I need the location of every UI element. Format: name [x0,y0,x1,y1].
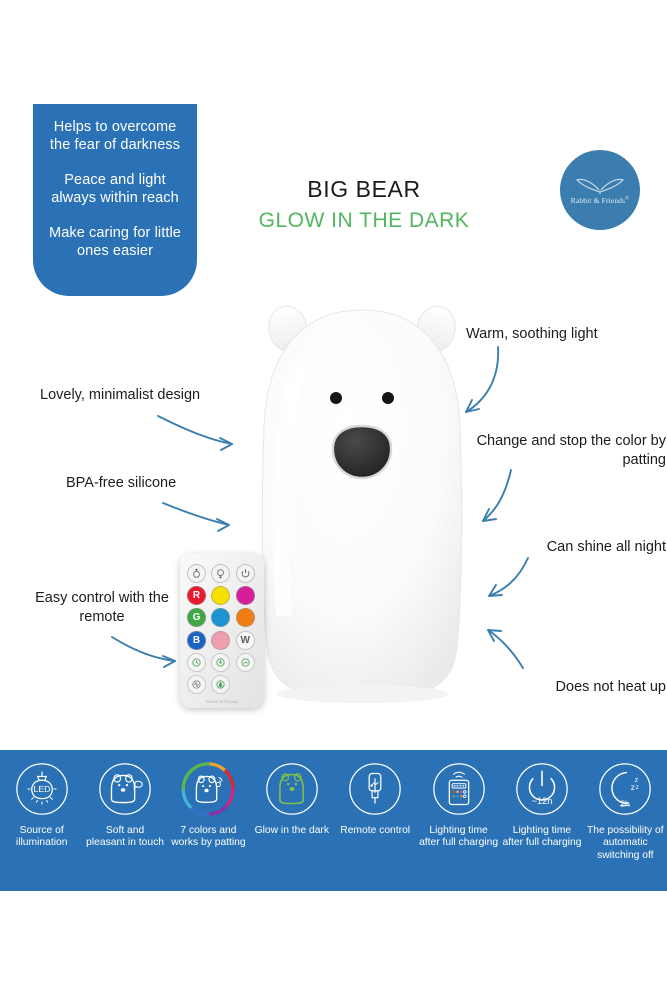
svg-text:z: z [635,775,639,784]
color-yellow-button[interactable] [211,586,230,605]
callout-does-not-heat-up: Does not heat up [456,678,666,697]
arrow-no-heat [488,630,523,668]
bear-nose [333,426,391,478]
arrow-bpa-free [163,503,229,525]
color-blue-button[interactable]: B [187,631,206,650]
brightness-up-icon[interactable] [187,564,206,583]
brand-logo-name: Rabbit & Friends® [571,196,630,205]
callout-change-stop-color: Change and stop the color by patting [470,432,666,470]
feature-seven-colors-patting: 7 colors and works by patting [167,760,250,850]
feature-label-colors: 7 colors and works by patting [169,825,248,850]
feature-soft-pleasant-touch: Soft and pleasant in touch [83,760,166,850]
benefit-line-2: Peace and light always within reach [45,171,185,207]
bear-touch-icon [96,760,154,818]
power-icon[interactable] [236,564,255,583]
bunny-ears-icon [574,175,626,195]
callout-lovely-minimalist-design: Lovely, minimalist design [40,386,255,405]
color-magenta-button[interactable] [236,586,255,605]
feature-bar: LED Source of illumination Soft and plea… [0,750,667,891]
bear-eye-right [382,392,394,404]
feature-label-lighting-12h: Lighting time after full charging [502,825,581,850]
usb-plug-icon [346,760,404,818]
arrow-minimalist [158,416,232,444]
arrow-change-color [483,470,511,521]
remote-signal-icon [430,760,488,818]
mode-strobe-icon[interactable] [211,653,230,672]
callout-can-shine-all-night: Can shine all night [456,538,666,557]
benefits-badge: Helps to overcome the fear of darkness P… [33,104,197,296]
bear-colors-icon [179,760,237,818]
feature-label-source: Source of illumination [2,825,81,850]
bear-eye-left [330,392,342,404]
bear-base-shadow [276,685,448,703]
arrow-shine-night [489,558,528,596]
mode-fade-icon[interactable] [236,653,255,672]
registered-mark: ® [625,197,629,202]
color-orange-button[interactable] [236,608,255,627]
feature-label-soft: Soft and pleasant in touch [85,825,164,850]
mode-tree-icon[interactable] [211,675,230,694]
color-white-button[interactable]: W [236,631,255,650]
svg-text:2h: 2h [620,798,630,808]
power-12h-icon: ~12h [513,760,571,818]
callout-easy-control-remote: Easy control with the remote [26,589,178,627]
feature-auto-switch-off: z z z 2h The possibility of automatic sw… [584,760,667,862]
feature-label-auto-off: The possibility of automatic switching o… [586,825,665,862]
product-title: BIG BEAR [232,176,496,203]
benefit-line-3: Make caring for little ones easier [45,224,185,260]
color-pink-button[interactable] [211,631,230,650]
mode-smooth-icon[interactable] [187,675,206,694]
svg-text:z: z [631,783,635,792]
product-subtitle: GLOW IN THE DARK [232,209,496,233]
svg-text:LED: LED [33,784,50,794]
brand-logo: Rabbit & Friends® [560,150,640,230]
remote-control[interactable]: R G B W [180,553,264,708]
bear-lamp-illustration [248,296,476,708]
bear-glow-icon [263,760,321,818]
feature-label-glow: Glow in the dark [255,825,329,837]
svg-text:z: z [636,784,639,791]
color-red-button[interactable]: R [187,586,206,605]
product-infographic-page: Helps to overcome the fear of darkness P… [0,0,667,1000]
feature-glow-in-the-dark: Glow in the dark [250,760,333,837]
led-bulb-icon: LED [13,760,71,818]
callout-warm-soothing-light: Warm, soothing light [466,325,666,344]
title-block: BIG BEAR GLOW IN THE DARK [232,176,496,233]
mode-flash-icon[interactable] [187,653,206,672]
feature-source-of-illumination: LED Source of illumination [0,760,83,850]
feature-lighting-time-remote: Lighting time after full charging [417,760,500,850]
remote-brand-label: Rabbit & Friends [187,699,257,704]
color-cyan-button[interactable] [211,608,230,627]
svg-text:~12h: ~12h [532,796,553,806]
callout-bpa-free-silicone: BPA-free silicone [66,474,266,493]
moon-sleep-icon: z z z 2h [596,760,654,818]
brightness-down-icon[interactable] [211,564,230,583]
feature-label-remote: Remote control [340,825,410,837]
feature-lighting-time-12h: ~12h Lighting time after full charging [500,760,583,850]
feature-label-lighting-remote: Lighting time after full charging [419,825,498,850]
arrow-easy-control [112,637,175,661]
benefit-line-1: Helps to overcome the fear of darkness [45,118,185,154]
color-green-button[interactable]: G [187,608,206,627]
remote-button-grid[interactable]: R G B W [187,564,257,694]
feature-remote-control: Remote control [334,760,417,837]
